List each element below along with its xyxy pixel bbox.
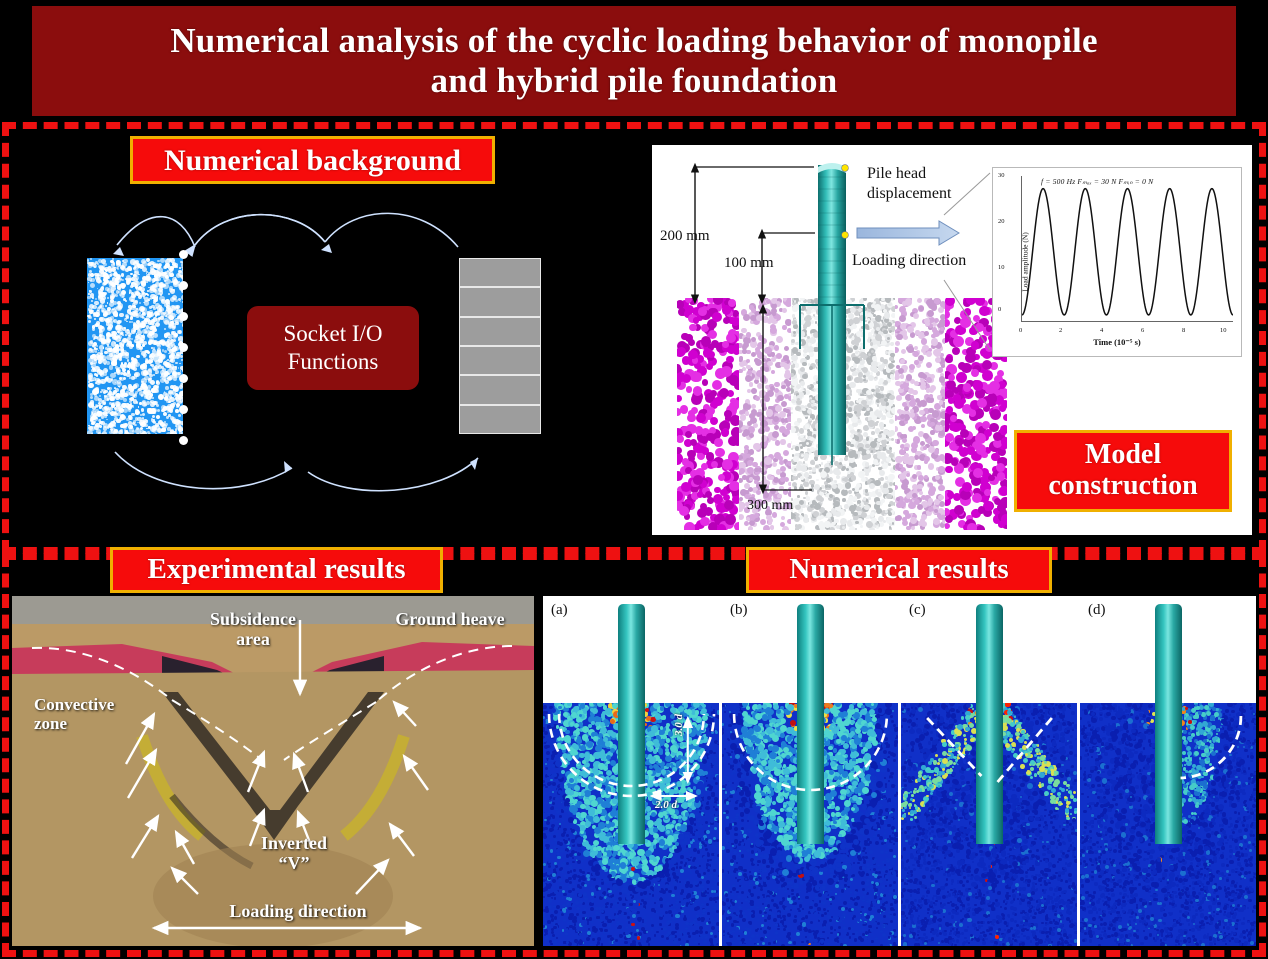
svg-text:Loading direction: Loading direction [852, 252, 966, 269]
numerical-background-diagram: Socket I/O Functions [20, 190, 620, 530]
inverted-line-1: Inverted [261, 833, 327, 853]
panel-a-dim-vertical: 3.0 d [673, 714, 685, 736]
photo-label-inverted-v: Inverted “V” [234, 834, 354, 874]
socket-io-functions-box: Socket I/O Functions [247, 306, 419, 390]
panel-a-dim-horizontal: 2.0 d [655, 799, 677, 811]
fem-layer [459, 258, 541, 287]
model-construction-line-1: Model [1085, 440, 1161, 471]
subsidence-line-1: Subsidence [210, 609, 296, 629]
socket-label-line-1: Socket I/O [283, 320, 382, 348]
panel-b-annotations [722, 596, 898, 946]
photo-label-ground-heave: Ground heave [370, 610, 530, 630]
panel-d-annotations [1080, 596, 1256, 946]
fem-layer [459, 375, 541, 404]
chart-xtick: 8 [1182, 327, 1185, 334]
fem-layer [459, 405, 541, 434]
chart-xtick: 10 [1220, 327, 1227, 334]
title-banner: Numerical analysis of the cyclic loading… [32, 6, 1236, 116]
photo-label-loading-direction: Loading direction [198, 902, 398, 922]
fem-layer [459, 317, 541, 346]
convective-line-1: Convective [34, 695, 114, 714]
chart-ytick: 30 [998, 172, 1005, 179]
chart-line [1022, 176, 1233, 321]
chart-ytick: 20 [998, 218, 1005, 225]
svg-text:200 mm: 200 mm [660, 228, 710, 244]
convective-line-2: zone [34, 714, 67, 733]
fem-layered-mesh [459, 258, 541, 434]
panel-c-annotations [901, 596, 1077, 946]
numerical-result-panel-d: (d) [1080, 596, 1256, 946]
section-label-numerical-background: Numerical background [130, 136, 495, 184]
photo-label-subsidence-area: Subsidence area [188, 610, 318, 650]
svg-text:displacement: displacement [867, 185, 952, 202]
cyclic-load-chart: f = 500 Hz Fₘₐₓ = 30 N Fₘᵢₙ = 0 N 30 20 … [992, 167, 1242, 357]
dem-particle-assembly [87, 258, 183, 434]
title-line-1: Numerical analysis of the cyclic loading… [170, 21, 1097, 60]
chart-xtick: 2 [1059, 327, 1062, 334]
subsidence-line-2: area [236, 629, 270, 649]
dem-boundary-nodes [179, 250, 189, 442]
numerical-result-panel-b: (b) [722, 596, 898, 946]
numerical-result-panel-c: (c) [901, 596, 1077, 946]
chart-plot-area: 30 20 10 0 0 2 4 6 8 10 [1021, 176, 1233, 322]
model-construction-line-2: construction [1048, 471, 1197, 502]
chart-ytick: 0 [998, 306, 1001, 313]
inverted-line-2: “V” [279, 853, 310, 873]
experimental-results-photo: Subsidence area Ground heave Convective … [12, 596, 534, 946]
svg-text:300 mm: 300 mm [747, 498, 793, 513]
section-label-experimental-results: Experimental results [110, 547, 443, 593]
fem-layer [459, 287, 541, 316]
title-line-2: and hybrid pile foundation [431, 61, 838, 100]
chart-xtick: 4 [1100, 327, 1103, 334]
svg-text:100 mm: 100 mm [724, 255, 774, 271]
photo-label-convective-zone: Convective zone [34, 696, 152, 733]
chart-xtick: 6 [1141, 327, 1144, 334]
section-label-numerical-results: Numerical results [746, 547, 1052, 593]
page-title: Numerical analysis of the cyclic loading… [170, 21, 1097, 101]
chart-xtick: 0 [1019, 327, 1022, 334]
numerical-results-figure: (a) 3.0 d 2.0 d (b) [543, 596, 1256, 946]
chart-x-axis-title: Time (10⁻⁵ s) [993, 337, 1241, 348]
section-label-model-construction: Model construction [1014, 430, 1232, 512]
fem-layer [459, 346, 541, 375]
panel-a-annotations [543, 596, 719, 946]
numerical-result-panel-a: (a) 3.0 d 2.0 d [543, 596, 719, 946]
svg-text:Pile head: Pile head [867, 165, 926, 182]
socket-label-line-2: Functions [288, 348, 379, 376]
chart-y-axis-title: Load amplitude (N) [1020, 232, 1029, 292]
chart-ytick: 10 [998, 264, 1005, 271]
